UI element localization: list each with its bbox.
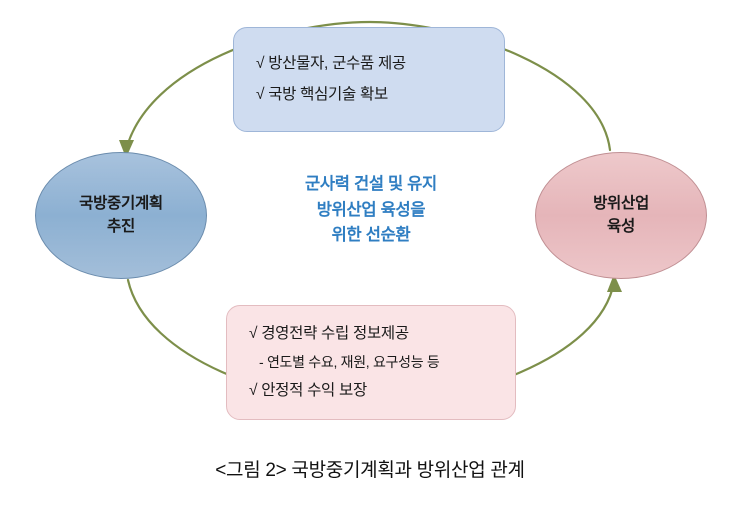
bottom-callout-box: √ 경영전략 수립 정보제공 - 연도별 수요, 재원, 요구성능 등 √ 안정… <box>226 305 516 420</box>
top-box-line-1: √ 방산물자, 군수품 제공 <box>256 52 482 76</box>
node-left-line2: 추진 <box>79 216 163 238</box>
diagram-canvas: 국방중기계획 추진 방위산업 육성 √ 방산물자, 군수품 제공 √ 국방 핵심… <box>0 0 740 521</box>
node-left-line1: 국방중기계획 <box>79 193 163 215</box>
node-left-defense-plan: 국방중기계획 추진 <box>35 152 207 279</box>
center-caption: 군사력 건설 및 유지 방위산업 육성을 위한 선순환 <box>246 172 496 249</box>
bottom-box-line-2: - 연도별 수요, 재원, 요구성능 등 <box>249 352 493 374</box>
node-right-line1: 방위산업 <box>593 193 649 215</box>
center-caption-line-2: 방위산업 육성을 <box>246 198 496 224</box>
bottom-box-line-1: √ 경영전략 수립 정보제공 <box>249 322 493 346</box>
node-right-defense-industry: 방위산업 육성 <box>535 152 707 279</box>
center-caption-line-3: 위한 선순환 <box>246 223 496 249</box>
center-caption-line-1: 군사력 건설 및 유지 <box>246 172 496 198</box>
node-right-line2: 육성 <box>593 216 649 238</box>
top-box-line-2: √ 국방 핵심기술 확보 <box>256 83 482 107</box>
figure-caption: <그림 2> 국방중기계획과 방위산업 관계 <box>0 455 740 482</box>
bottom-box-line-3: √ 안정적 수익 보장 <box>249 379 493 403</box>
top-callout-box: √ 방산물자, 군수품 제공 √ 국방 핵심기술 확보 <box>233 27 505 132</box>
